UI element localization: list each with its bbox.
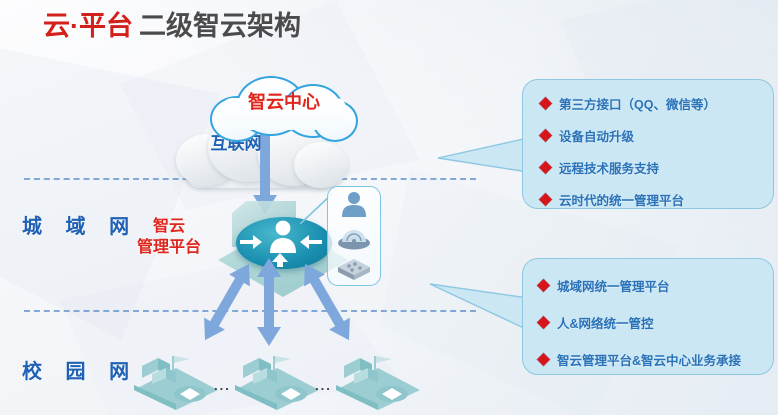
list-item-label: 城域网统一管理平台 [557,276,670,295]
list-item-label: 人&网络统一管控 [557,313,654,332]
list-item: 第三方接口（QQ、微信等） [541,94,716,113]
campus-building-icon [128,350,224,410]
campus-ellipsis: ... [315,378,332,393]
list-item-label: 第三方接口（QQ、微信等） [559,94,716,113]
list-item: 智云管理平台&智云中心业务承接 [539,350,741,369]
diamond-bullet-icon [537,279,550,292]
callout-tail-bottom [428,266,528,332]
diamond-bullet-icon [539,161,552,174]
callout-top-list: 第三方接口（QQ、微信等） 设备自动升级 远程技术服务支持 云时代的统一管理平台 [541,94,716,209]
wireless-dome-icon [337,224,371,250]
title-highlight: 云·平台 [43,11,133,41]
list-item-label: 智云管理平台&智云中心业务承接 [557,350,741,369]
user-icon [264,219,302,253]
user-icon [339,191,369,217]
zone-label-campus: 校 园 网 [22,355,138,384]
diamond-bullet-icon [537,316,550,329]
diamond-bullet-icon [539,97,552,110]
zhiyun-center-label: 智云中心 [222,88,346,114]
arrow-left-small-icon [300,235,322,249]
diamond-bullet-icon [539,193,552,206]
arrow-right-small-icon [240,235,262,249]
callout-bottom-list: 城域网统一管理平台 人&网络统一管控 智云管理平台&智云中心业务承接 [539,276,741,369]
diamond-bullet-icon [539,129,552,142]
platform-label-line1: 智云 [126,216,212,237]
list-item: 设备自动升级 [541,126,716,145]
list-item-label: 远程技术服务支持 [559,158,659,177]
arrow-platform-to-campus-right [296,258,358,346]
campus-building-icon [330,350,426,410]
list-item: 云时代的统一管理平台 [541,190,716,209]
title-rest: 二级智云架构 [139,11,301,41]
list-item: 远程技术服务支持 [541,158,716,177]
platform-label-line2: 管理平台 [126,237,212,258]
zone-label-metro: 城 域 网 [22,210,138,239]
callout-box-features: 第三方接口（QQ、微信等） 设备自动升级 远程技术服务支持 云时代的统一管理平台 [522,79,774,209]
list-item-label: 云时代的统一管理平台 [559,190,684,209]
diamond-bullet-icon [537,353,550,366]
page-title: 云·平台二级智云架构 [43,4,301,43]
campus-building-icon [229,350,325,410]
arrow-platform-to-campus-left [196,258,258,346]
platform-label: 智云 管理平台 [126,216,212,258]
list-item: 人&网络统一管控 [539,313,741,332]
campus-ellipsis: ... [214,378,231,393]
list-item: 城域网统一管理平台 [539,276,741,295]
arrow-platform-to-campus-center [256,258,282,346]
slide-canvas: 云·平台二级智云架构 城 域 网 校 园 网 互联网 智云中心 [0,0,778,415]
list-item-label: 设备自动升级 [559,126,634,145]
callout-box-metro-capabilities: 城域网统一管理平台 人&网络统一管控 智云管理平台&智云中心业务承接 [522,258,774,375]
callout-tail-top [436,112,528,174]
